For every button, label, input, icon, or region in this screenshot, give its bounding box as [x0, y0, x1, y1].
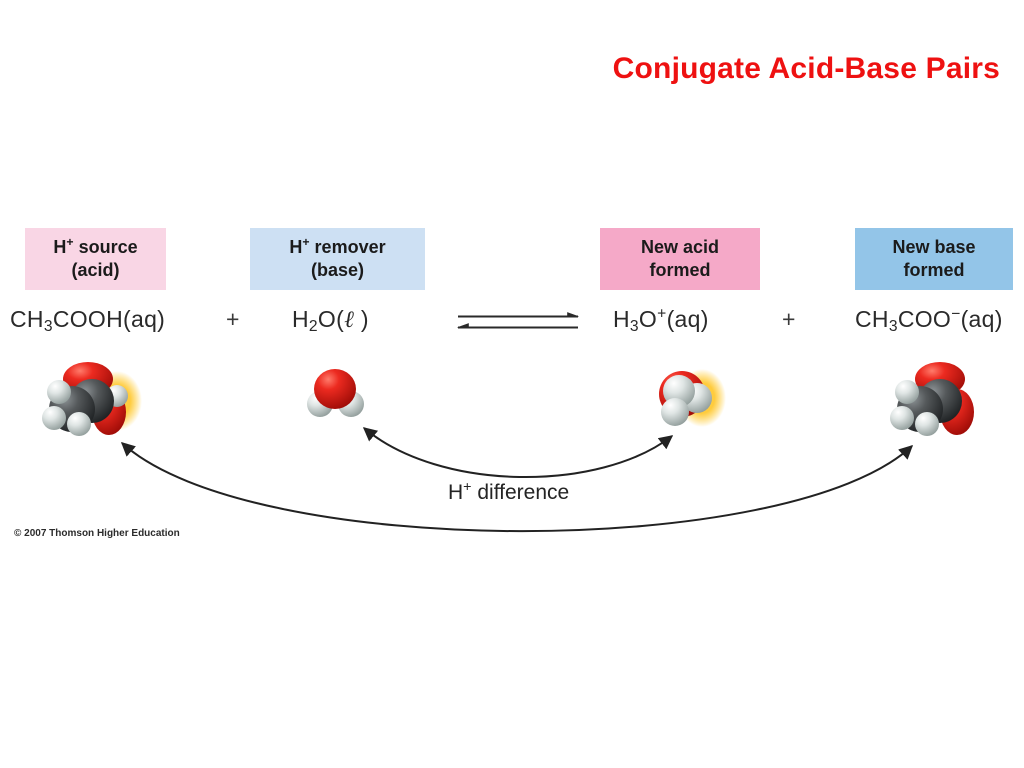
atom-hydrogen [47, 380, 71, 404]
formula-acetate: CH3COO−(aq) [855, 306, 1003, 333]
inner-proton-transfer-arrow [364, 428, 672, 477]
h-difference-label: H+ difference [448, 481, 569, 505]
plus-sign-1: + [226, 306, 239, 333]
label-box-new-acid-line2: formed [649, 259, 710, 282]
atom-carbon [897, 386, 943, 432]
proton-highlight-glow [92, 371, 142, 431]
atom-hydrogen-acidic [106, 385, 128, 407]
atom-hydrogen-transferred [682, 383, 712, 413]
charge-superscript: + [657, 305, 666, 322]
atom-hydrogen [307, 391, 333, 417]
page-title: Conjugate Acid-Base Pairs [0, 52, 1000, 86]
atom-hydrogen [67, 412, 91, 436]
plus-sign-2: + [782, 306, 795, 333]
atom-hydrogen [42, 406, 66, 430]
atom-hydrogen [661, 398, 689, 426]
atom-oxygen [314, 369, 356, 409]
superscript-plus: + [302, 235, 309, 249]
subscript: 3 [630, 318, 639, 335]
formula-acetic-acid: CH3COOH(aq) [10, 306, 165, 333]
label-box-base: H+ remover (base) [250, 228, 425, 290]
slide-canvas: Conjugate Acid-Base Pairs H+ source (aci… [0, 0, 1024, 768]
subscript: 3 [44, 318, 53, 335]
label-box-acid-line1: H+ source [53, 236, 137, 259]
molecule-acetic-acid [42, 362, 142, 436]
label-box-new-acid-line1: New acid [641, 236, 719, 259]
molecule-acetate [890, 362, 974, 436]
atom-oxygen [940, 389, 974, 435]
atom-hydrogen [890, 406, 914, 430]
atom-oxygen [915, 362, 965, 396]
atom-hydrogen [338, 391, 364, 417]
label-box-acid: H+ source (acid) [25, 228, 166, 290]
atom-carbon [70, 379, 114, 423]
formula-hydronium: H3O+(aq) [613, 306, 709, 333]
superscript-plus: + [66, 235, 73, 249]
equilibrium-arrow [458, 317, 578, 328]
atom-oxygen [63, 362, 113, 396]
label-box-new-base-line2: formed [903, 259, 964, 282]
atom-oxygen [659, 371, 705, 417]
label-box-base-line2: (base) [311, 259, 364, 282]
atom-carbon [49, 386, 95, 432]
proton-highlight-glow [678, 369, 726, 427]
liquid-state-symbol: ℓ [344, 307, 354, 333]
superscript-plus: + [463, 479, 471, 495]
label-box-new-base: New base formed [855, 228, 1013, 290]
charge-superscript: − [951, 305, 960, 322]
molecule-water [307, 369, 364, 417]
copyright-notice: © 2007 Thomson Higher Education [14, 528, 180, 539]
label-box-new-base-line1: New base [892, 236, 975, 259]
atom-hydrogen [663, 375, 695, 407]
atom-oxygen [92, 389, 126, 435]
diagram-artwork [0, 0, 1024, 768]
label-box-new-acid: New acid formed [600, 228, 760, 290]
atom-hydrogen [915, 412, 939, 436]
label-box-base-line1: H+ remover [289, 236, 385, 259]
molecule-hydronium [659, 369, 726, 427]
atom-hydrogen [895, 380, 919, 404]
subscript: 3 [889, 318, 898, 335]
formula-water: H2O(ℓ ) [292, 306, 369, 334]
label-box-acid-line2: (acid) [71, 259, 119, 282]
atom-carbon [918, 379, 962, 423]
subscript: 2 [309, 318, 318, 335]
